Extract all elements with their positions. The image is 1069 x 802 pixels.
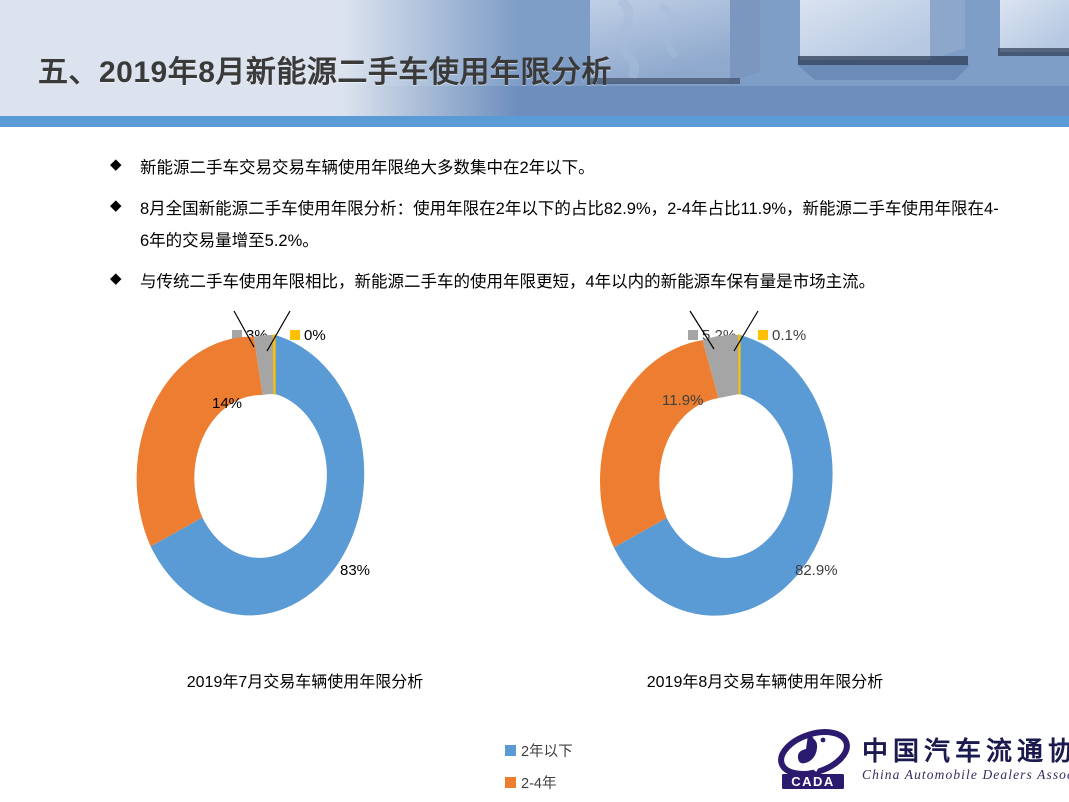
slice-2to4years [600, 340, 718, 547]
cada-logo: CADA 中国汽车流通协会 China Automobile Dealers A… [778, 727, 1058, 793]
logo-name-cn: 中国汽车流通协会 [862, 731, 1069, 768]
slice-6years-over [273, 335, 275, 394]
diamond-bullet-icon: ◆ [110, 152, 140, 178]
value-label-2years-under-july: 83% [340, 562, 370, 579]
chart-caption-august: 2019年8月交易车辆使用年限分析 [600, 668, 930, 692]
donut-graphic-august [600, 322, 930, 642]
logo-name-en: China Automobile Dealers Association [862, 767, 1069, 783]
svg-text:CADA: CADA [791, 774, 835, 789]
legend-item-1[interactable]: 2-4年 [505, 770, 600, 795]
donut-chart-july: 3% 0% [140, 300, 470, 720]
slice-2to4years [137, 337, 263, 547]
chart-caption-july: 2019年7月交易车辆使用年限分析 [140, 668, 470, 692]
bullet-list: ◆ 新能源二手车交易交易车辆使用年限绝大多数集中在2年以下。 ◆ 8月全国新能源… [110, 152, 1000, 307]
diamond-bullet-icon: ◆ [110, 193, 140, 219]
charts-area: 3% 0% [0, 300, 1069, 720]
bullet-item-1: ◆ 新能源二手车交易交易车辆使用年限绝大多数集中在2年以下。 [110, 152, 1000, 184]
cada-emblem-icon: CADA [778, 729, 854, 791]
bullet-item-3: ◆ 与传统二手车使用年限相比，新能源二手车的使用年限更短，4年以内的新能源车保有… [110, 266, 1000, 298]
legend-swatch-2to4years [505, 777, 516, 788]
legend-item-0[interactable]: 2年以下 [505, 738, 600, 763]
bullet-text-2: 8月全国新能源二手车使用年限分析：使用年限在2年以下的占比82.9%，2-4年占… [140, 193, 1000, 257]
header-accent-bar [0, 116, 1069, 127]
legend-swatch-2years-under [505, 745, 516, 756]
value-label-2years-under-august: 82.9% [795, 562, 838, 579]
slide-root: 五、2019年8月新能源二手车使用年限分析 ◆ 新能源二手车交易交易车辆使用年限… [0, 0, 1069, 802]
bullet-text-3: 与传统二手车使用年限相比，新能源二手车的使用年限更短，4年以内的新能源车保有量是… [140, 266, 1000, 298]
donut-chart-august: 5.2% 0.1% [600, 300, 930, 720]
donut-graphic-july [140, 322, 470, 642]
value-label-2to4years-july: 14% [212, 395, 242, 412]
chart-legend: 2年以下 2-4年 4-6年 6年以上 [505, 738, 600, 802]
page-title: 五、2019年8月新能源二手车使用年限分析 [38, 47, 612, 91]
bullet-item-2: ◆ 8月全国新能源二手车使用年限分析：使用年限在2年以下的占比82.9%，2-4… [110, 193, 1000, 257]
bullet-text-1: 新能源二手车交易交易车辆使用年限绝大多数集中在2年以下。 [140, 152, 1000, 184]
slide-header: 五、2019年8月新能源二手车使用年限分析 [0, 0, 1069, 116]
legend-label-0: 2年以下 [521, 740, 573, 761]
diamond-bullet-icon: ◆ [110, 266, 140, 292]
legend-label-1: 2-4年 [521, 772, 556, 793]
value-label-2to4years-august: 11.9% [662, 392, 703, 409]
